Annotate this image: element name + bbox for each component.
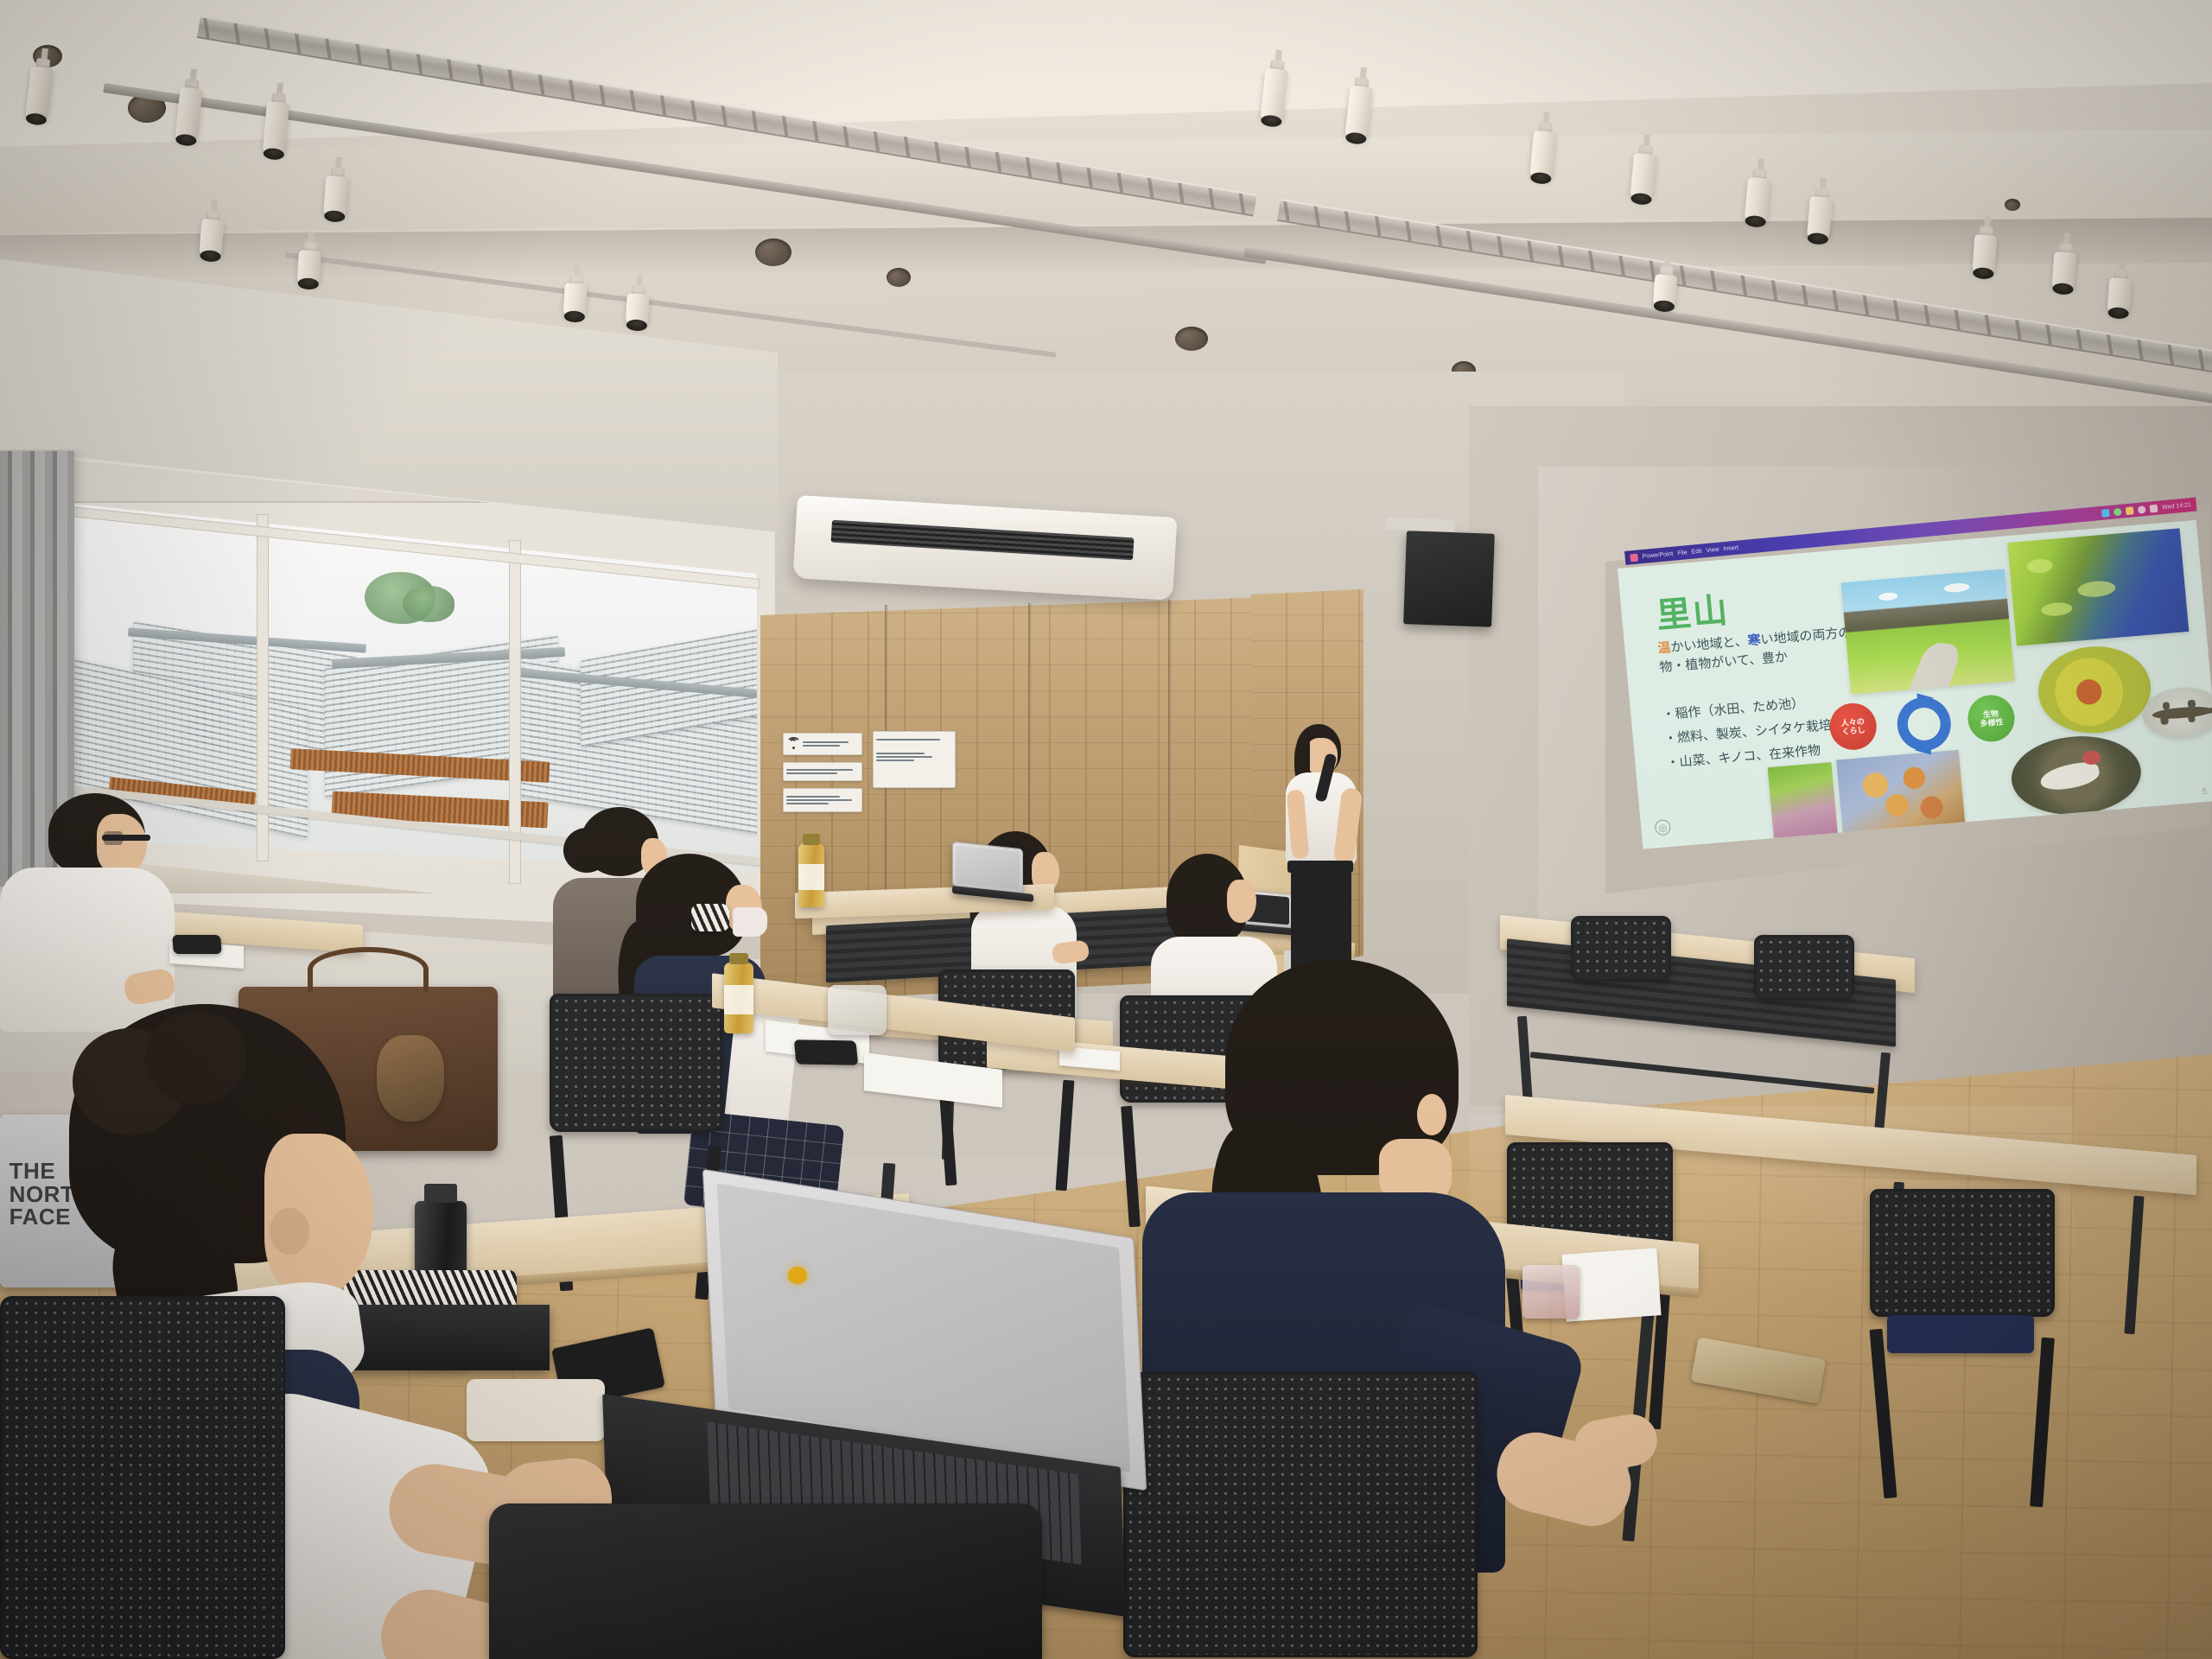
menubar-item-insert[interactable]: Insert xyxy=(1723,544,1738,552)
battery-icon[interactable] xyxy=(2126,506,2134,515)
slide-photo-satoyama-landscape xyxy=(1841,569,2015,695)
tea-bottle-1[interactable] xyxy=(724,963,753,1033)
window-transom xyxy=(17,454,766,503)
ceiling-hole xyxy=(755,238,791,266)
slide-photo-newt xyxy=(2140,684,2212,741)
framed-notice xyxy=(873,731,956,788)
wifi-status-icon[interactable] xyxy=(2138,505,2146,514)
glasses-lens xyxy=(104,831,123,845)
cycle-bio-line2: 多様性 xyxy=(1980,717,2004,728)
face-mask xyxy=(733,907,767,937)
backpack-foreground[interactable] xyxy=(489,1503,1042,1659)
student-arm xyxy=(1052,939,1090,965)
control-center-icon[interactable] xyxy=(2150,504,2158,512)
student-ear xyxy=(270,1208,309,1255)
small-cup xyxy=(1522,1265,1580,1319)
bluetooth-icon[interactable] xyxy=(2101,508,2110,517)
ceiling-hole xyxy=(887,268,911,287)
slide-page-number: 5 xyxy=(2202,787,2208,797)
slide-photo-nesting-bird xyxy=(2008,731,2145,819)
slide-photo-wild-vegetables xyxy=(1768,762,1839,842)
apple-menu-icon[interactable] xyxy=(1630,553,1638,562)
empty-chair-mid-2[interactable] xyxy=(1870,1189,2055,1317)
toilet-notice-sign xyxy=(783,762,862,781)
slide-logo: ◎ xyxy=(1655,819,1672,836)
slide-title: 里山 xyxy=(1654,582,1731,639)
bag-handle xyxy=(308,947,429,992)
student-hair-bun-knot xyxy=(563,828,610,873)
emergency-notice-sign xyxy=(783,788,862,812)
menubar-item-file[interactable]: File xyxy=(1677,550,1688,556)
speaker-bracket xyxy=(1386,518,1455,532)
student-hair-bun-2 xyxy=(145,1011,247,1104)
smartphone-2[interactable] xyxy=(794,1039,859,1065)
clear-pouch[interactable] xyxy=(828,985,887,1035)
wifi-icon xyxy=(786,738,800,750)
menubar-item-view[interactable]: View xyxy=(1706,546,1719,553)
cycle-people-line2: くらし xyxy=(1841,726,1866,737)
subtitle-text-a: かい地域と、 xyxy=(1670,634,1749,655)
subtitle-warm-kanji: 温 xyxy=(1657,640,1672,656)
smartphone-1[interactable] xyxy=(172,935,221,954)
laptop-status-led xyxy=(788,1267,807,1284)
projection-screen: PowerPoint File Edit View Insert Wed 14:… xyxy=(1605,505,2210,893)
menubar-item-edit[interactable]: Edit xyxy=(1691,548,1702,555)
chair-student-navy-front[interactable] xyxy=(1123,1372,1478,1657)
slide-canvas: 里山 温かい地域と、寒い地域の両方の動物・植物がいて、豊か 稲作（水田、ため池）… xyxy=(1618,520,2212,849)
wifi-sign xyxy=(783,733,862,755)
student-ear xyxy=(1417,1094,1446,1135)
laptop-back-table[interactable] xyxy=(952,845,1035,899)
menubar-app-name[interactable]: PowerPoint xyxy=(1642,550,1673,559)
chair-student-front-left[interactable] xyxy=(0,1296,285,1659)
tea-bottle-2[interactable] xyxy=(798,843,824,907)
slide-photo-crab xyxy=(2035,642,2155,737)
wall-speaker xyxy=(1403,531,1495,626)
hair-scrunchie xyxy=(691,904,729,931)
tree-outside xyxy=(403,586,454,622)
classroom-photo: PowerPoint File Edit View Insert Wed 14:… xyxy=(0,0,2212,1659)
cycle-label-biodiversity: 生物 多様性 xyxy=(1966,693,2017,743)
empty-chair-rear-2[interactable] xyxy=(1754,935,1854,1001)
slide-photo-stream-vegetation xyxy=(2007,528,2189,645)
circular-arrows-icon xyxy=(1884,684,1964,765)
display-icon[interactable] xyxy=(2113,507,2122,516)
student-face xyxy=(1227,880,1256,923)
ceiling-hole xyxy=(2005,199,2020,211)
ceiling-hole xyxy=(1175,327,1208,351)
menubar-clock[interactable]: Wed 14:21 xyxy=(2162,502,2191,511)
